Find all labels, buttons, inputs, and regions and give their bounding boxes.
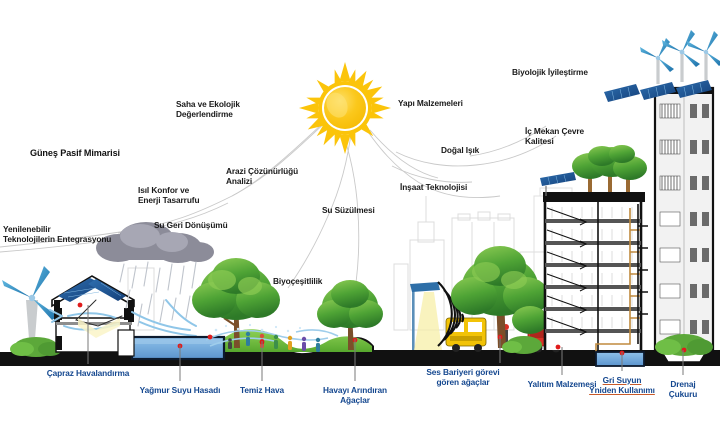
label-insaat-teknolojisi: İnşaat Teknolojisi [400,182,467,192]
label-drenaj-cukuru: Drenaj Çukuru [665,379,702,399]
label-su-suzulmesi: Su Süzülmesi [322,205,375,215]
label-isil-konfor-ve-enerji-tasarrufu: Isıl Konfor ve Enerji Tasarrufu [138,185,199,205]
label-ic-mekan-cevre-kalitesi: İç Mekan Çevre Kalitesi [525,126,584,146]
greywater-tank [596,351,644,366]
atrium-building-section [540,172,648,352]
infographic-root: Güneş Pasif MimarisiSaha ve Ekolojik Değ… [0,0,720,427]
marker-dot [556,345,561,350]
label-gunes-pasif-mimarisi: Güneş Pasif Mimarisi [30,148,120,159]
marker-dot [208,335,213,340]
label-arazi-cozunurlugu-analizi: Arazi Çözünürlüğü Analizi [226,166,298,186]
rainwater-tank [132,337,224,359]
label-yapi-malzemeleri: Yapı Malzemeleri [398,98,463,108]
label-yagmur-suyu-hasadi: Yağmur Suyu Hasadı [140,385,221,395]
marker-dot [682,348,687,353]
label-yenilenebilir-teknolojilerin-entegrasyonu: Yenilenebilir Teknolojilerin Entegrasyon… [3,224,111,244]
label-biyolojik-iyilestirme: Biyolojik İyileştirme [512,67,588,77]
label-ses-bariyeri-goren-agaclar: Ses Bariyeri görevi gören ağaçlar [426,367,499,387]
label-gri-suyun-yeniden-kullanimi: Gri Suyun Yniden Kullanımı [589,375,655,395]
marker-dot [78,303,83,308]
sun-icon [299,62,391,154]
label-dogal-isik: Doğal Işık [441,145,479,155]
label-temiz-hava: Temiz Hava [240,385,284,395]
label-capraz-havalandirma: Çapraz Havalandırma [47,368,130,378]
label-biyocesitlilik: Biyoçeşitlilik [273,276,322,286]
label-yalitim-malzemesi: Yalıtım Malzemesi [528,379,597,389]
green-roof-trees [572,145,647,192]
label-su-geri-donusumu: Su Geri Dönüşümü [154,220,228,230]
street-lamp [410,282,442,350]
tree-mid [317,280,383,350]
wind-turbines-roof [640,30,720,84]
label-saha-ve-ekolojik-degerlendirme: Saha ve Ekolojik Değerlendirme [176,99,240,119]
label-havayi-arindiran-agaclar: Havayı Arındıran Ağaçlar [323,385,387,405]
high-rise-tower [655,88,713,350]
